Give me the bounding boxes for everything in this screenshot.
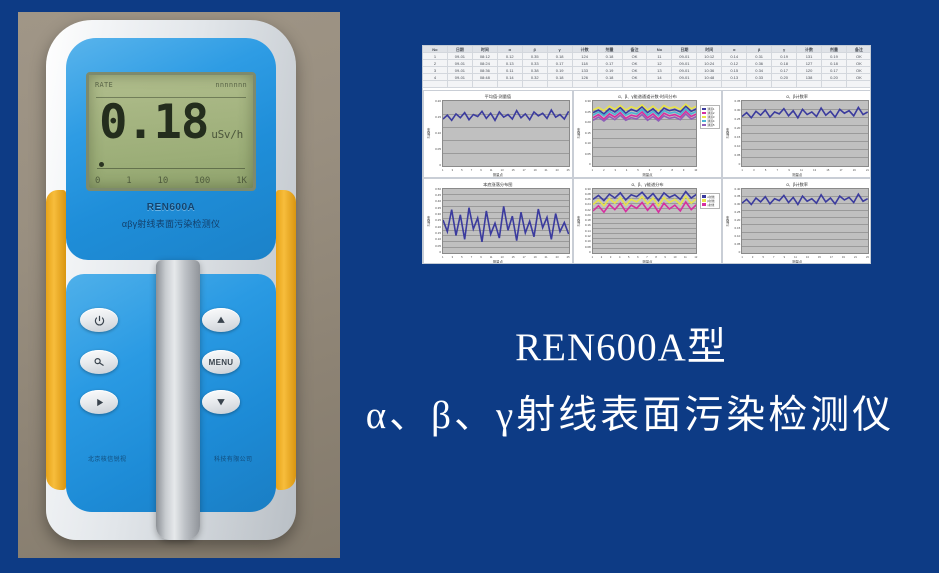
spreadsheet-cell [797, 81, 822, 87]
chart-y-tick: 0.10 [585, 240, 591, 243]
chart-y-tick: 0.20 [435, 226, 441, 229]
chart-y-tick: 0.15 [734, 136, 740, 139]
spreadsheet-cell: 0.36 [747, 60, 772, 66]
chart-title: α、β计数率 [725, 181, 869, 188]
chart-y-tick: 0.20 [585, 121, 591, 124]
spreadsheet-cell: 0.19 [548, 67, 573, 73]
chart-y-axis-label: 计数率 [426, 188, 431, 255]
spreadsheet-row: 309-0108:360.110.380.191330.19OK1309-011… [423, 67, 871, 74]
chart-y-axis-label: 计数率 [725, 100, 730, 167]
spreadsheet-cell: 12 [647, 60, 672, 66]
chart-card: 平均值-测量值计数率0.200.150.100.0501357911131517… [423, 90, 573, 178]
menu-text: MENU [209, 358, 234, 367]
chart-body: 计数率0.350.300.250.200.150.100.050 [725, 100, 869, 167]
spreadsheet-cell: OK [847, 53, 871, 59]
spreadsheet-cell: β [523, 46, 548, 52]
spreadsheet-cell: α [722, 46, 747, 52]
chart-y-tick: 0.25 [734, 118, 740, 121]
spreadsheet-cell: 08:48 [473, 74, 498, 80]
chart-y-tick: 0.50 [435, 188, 441, 191]
play-icon [94, 397, 105, 408]
spreadsheet-cell: 10:36 [697, 67, 722, 73]
power-button[interactable] [80, 308, 118, 332]
chart-y-tick: 0.35 [435, 207, 441, 210]
spreadsheet-cell: 0.33 [747, 74, 772, 80]
spreadsheet-cell: OK [847, 67, 871, 73]
spreadsheet-cell: OK [623, 74, 648, 80]
chart-legend-label: γ射线 [707, 203, 714, 207]
chart-y-tick: 0.40 [734, 188, 740, 191]
chart-legend-swatch [702, 116, 706, 119]
down-button[interactable] [202, 390, 240, 414]
spreadsheet-cell: 计数 [573, 46, 598, 52]
chart-y-tick: 0.20 [734, 219, 740, 222]
spreadsheet-cell: 剂量 [598, 46, 623, 52]
spreadsheet-cell: 0.11 [498, 67, 523, 73]
chart-plot-area [442, 188, 570, 255]
lcd-scale: 01101001K [95, 176, 247, 186]
spreadsheet-cell: 0.20 [822, 74, 847, 80]
spreadsheet-cell: 0.33 [523, 60, 548, 66]
spreadsheet-cell: 09-01 [672, 74, 697, 80]
chart-x-axis-label: 测量点 [574, 259, 722, 264]
spreadsheet-cell: 0.31 [747, 53, 772, 59]
spreadsheet-cell: 4 [423, 74, 448, 80]
spreadsheet-cell: 0.14 [722, 53, 747, 59]
device-hand-strap [156, 260, 200, 540]
lcd-scale-tick-1: 1 [126, 176, 131, 186]
chart-y-ticks: 0.350.300.250.200.150.100.050 [730, 100, 741, 167]
device-model-label: REN600A [66, 202, 276, 213]
spreadsheet-cell: 133 [573, 67, 598, 73]
spreadsheet-cell: 日期 [448, 46, 473, 52]
chart-y-axis-label: 计数率 [725, 188, 730, 255]
chart-body: 计数率0.500.450.400.350.300.250.200.150.100… [426, 188, 570, 255]
spreadsheet-row: 209-0108:240.130.330.171180.17OK1209-011… [423, 60, 871, 67]
play-button[interactable] [80, 390, 118, 414]
chart-card: α、β、γ能谱分布计数率0.300.280.260.240.220.200.18… [573, 178, 723, 265]
spreadsheet-cell: 09-01 [448, 53, 473, 59]
spreadsheet-cell: 10:24 [697, 60, 722, 66]
chart-title: α、β计数率 [725, 93, 869, 100]
spreadsheet-cell: 0.14 [498, 74, 523, 80]
chart-legend-item: 通道5 [702, 123, 718, 127]
device-footer-right: 科技有限公司 [214, 454, 252, 463]
spreadsheet-cell: γ [548, 46, 573, 52]
spreadsheet-cell: 08:36 [473, 67, 498, 73]
spreadsheet-cell [722, 81, 747, 87]
lcd-bargraph [97, 163, 245, 169]
spreadsheet-cell [772, 81, 797, 87]
chart-y-ticks: 0.500.450.400.350.300.250.200.150.100.05… [431, 188, 442, 255]
chart-y-tick: 0.40 [435, 200, 441, 203]
spreadsheet-cell: 备注 [847, 46, 871, 52]
spreadsheet-cell: 0.20 [772, 74, 797, 80]
up-button[interactable] [202, 308, 240, 332]
spreadsheet-cell: 0.38 [523, 67, 548, 73]
chart-card: α、β计数率计数率0.350.300.250.200.150.100.05013… [722, 90, 871, 178]
spreadsheet-cell [647, 81, 672, 87]
spreadsheet-cell [623, 81, 648, 87]
spreadsheet-cell: 120 [797, 67, 822, 73]
device-bumper-left [46, 190, 66, 490]
lcd-status-left: RATE [95, 81, 113, 89]
chart-y-tick: 0.30 [734, 203, 740, 206]
chart-y-tick: 0.10 [435, 132, 441, 135]
spreadsheet-cell: 0.19 [772, 53, 797, 59]
chart-y-ticks: 0.300.250.200.150.100.050 [581, 100, 592, 167]
chart-legend-item: γ射线 [702, 203, 718, 207]
lcd-status-bar: RATE nnnnnnn [89, 77, 253, 93]
spreadsheet-cell: α [498, 46, 523, 52]
chart-legend: 通道1通道2通道3通道4通道5 [700, 105, 720, 129]
spreadsheet-cell: 13 [647, 67, 672, 73]
chart-y-tick: 0.05 [585, 153, 591, 156]
chart-legend-swatch [702, 124, 706, 127]
caption-model-line: REN600A型 [330, 322, 930, 374]
chart-y-tick: 0.20 [435, 100, 441, 103]
lcd-scale-tick-4: 1K [236, 176, 247, 186]
spreadsheet-cell: 计数 [797, 46, 822, 52]
triangle-down-icon [215, 397, 227, 407]
chart-plot-area [442, 100, 570, 167]
power-icon [94, 315, 105, 326]
spreadsheet-strip: No日期时间αβγ计数剂量备注No日期时间αβγ计数剂量备注109-0108:1… [423, 46, 871, 88]
spreadsheet-cell: β [747, 46, 772, 52]
chart-y-tick: 0.24 [585, 203, 591, 206]
lcd-scale-tick-2: 10 [157, 176, 168, 186]
spreadsheet-cell: 0.18 [598, 74, 623, 80]
chart-y-tick: 0.30 [585, 100, 591, 103]
chart-legend-swatch [702, 195, 706, 198]
chart-y-ticks: 0.300.280.260.240.220.200.180.160.140.12… [581, 188, 592, 255]
spreadsheet-cell [573, 81, 598, 87]
spreadsheet-cell: 10:12 [697, 53, 722, 59]
spreadsheet-cell: 0.34 [747, 67, 772, 73]
chart-y-tick: 0.25 [585, 111, 591, 114]
spreadsheet-cell [423, 81, 448, 87]
chart-title: α、β、γ能谱通道计数-时间分布 [576, 93, 720, 100]
chart-title: 本底涨落分布图 [426, 181, 570, 188]
chart-y-tick: 0.20 [585, 214, 591, 217]
spreadsheet-cell: OK [847, 60, 871, 66]
spreadsheet-cell [672, 81, 697, 87]
spreadsheet-cell: 0.17 [548, 60, 573, 66]
spreadsheet-cell [498, 81, 523, 87]
spreadsheet-cell: 124 [573, 53, 598, 59]
device-bumper-right [276, 190, 296, 490]
chart-y-tick: 0.28 [585, 193, 591, 196]
spreadsheet-cell: 0.13 [498, 60, 523, 66]
spreadsheet-cell: No [647, 46, 672, 52]
spreadsheet-cell: 0.17 [822, 67, 847, 73]
chart-y-tick: 0.15 [734, 227, 740, 230]
chart-plot-area [741, 100, 869, 167]
chart-legend-label: 通道5 [707, 123, 714, 127]
lcd-scale-tick-3: 100 [194, 176, 210, 186]
chart-y-ticks: 0.200.150.100.050 [431, 100, 442, 167]
chart-y-tick: 0.16 [585, 224, 591, 227]
chart-y-tick: 0.05 [435, 148, 441, 151]
spreadsheet-cell [847, 81, 871, 87]
spreadsheet-cell: OK [623, 67, 648, 73]
spreadsheet-cell: 118 [573, 60, 598, 66]
chart-y-tick: 0.22 [585, 209, 591, 212]
spreadsheet-cell [747, 81, 772, 87]
lcd-status-right: nnnnnnn [215, 81, 247, 89]
chart-y-ticks: 0.400.350.300.250.200.150.100.050 [730, 188, 741, 255]
spreadsheet-cell: 09-01 [448, 67, 473, 73]
chart-y-tick: 0.10 [734, 235, 740, 238]
chart-series-line [742, 194, 868, 204]
spreadsheet-cell: OK [623, 60, 648, 66]
chart-x-axis-label: 测量点 [723, 259, 871, 264]
spreadsheet-header-row: No日期时间αβγ计数剂量备注No日期时间αβγ计数剂量备注 [423, 46, 871, 53]
chart-legend-swatch [702, 112, 706, 115]
spreadsheet-row: 409-0108:480.140.320.181260.18OK1409-011… [423, 74, 871, 81]
spreadsheet-cell: 0.12 [498, 53, 523, 59]
spreadsheet-cell: 1 [423, 53, 448, 59]
spreadsheet-cell: 09-01 [448, 74, 473, 80]
caption-block: REN600A型 α、β、γ射线表面污染检测仪 [330, 322, 930, 444]
spreadsheet-cell: 0.13 [722, 74, 747, 80]
chart-series-line [443, 110, 569, 120]
spreadsheet-cell: 3 [423, 67, 448, 73]
spreadsheet-cell: 剂量 [822, 46, 847, 52]
spreadsheet-cell: 127 [797, 60, 822, 66]
magnifier-icon [93, 357, 105, 368]
caption-description-line: α、β、γ射线表面污染检测仪 [330, 388, 930, 444]
chart-y-tick: 0.35 [734, 100, 740, 103]
chart-y-axis-label: 计数率 [426, 100, 431, 167]
spreadsheet-cell [548, 81, 573, 87]
spreadsheet-cell: 0.18 [548, 53, 573, 59]
chart-y-tick: 0.30 [585, 188, 591, 191]
menu-button[interactable]: MENU [202, 350, 240, 374]
chart-y-tick: 0 [739, 163, 741, 166]
chart-plot-area [741, 188, 869, 255]
chart-y-tick: 0.15 [435, 116, 441, 119]
chart-y-tick: 0.25 [734, 211, 740, 214]
spreadsheet-cell: 09-01 [672, 67, 697, 73]
search-button[interactable] [80, 350, 118, 374]
chart-title: 平均值-测量值 [426, 93, 570, 100]
spreadsheet-cell: 126 [573, 74, 598, 80]
chart-y-tick: 0 [439, 251, 441, 254]
spreadsheet-cell: 08:24 [473, 60, 498, 66]
chart-body: 计数率0.300.280.260.240.220.200.180.160.140… [576, 188, 720, 255]
lcd-unit: uSv/h [211, 128, 243, 141]
spreadsheet-cell: 138 [797, 74, 822, 80]
spreadsheet-cell: 备注 [623, 46, 648, 52]
spreadsheet-cell: 131 [797, 53, 822, 59]
chart-y-tick: 0.10 [734, 145, 740, 148]
spreadsheet-cell: 0.18 [598, 53, 623, 59]
chart-y-tick: 0.15 [585, 132, 591, 135]
spreadsheet-cell: 0.15 [722, 67, 747, 73]
chart-body: 计数率0.200.150.100.050 [426, 100, 570, 167]
spreadsheet-cell: 时间 [697, 46, 722, 52]
chart-y-tick: 0.25 [435, 219, 441, 222]
spreadsheet-row: 109-0108:120.120.350.181240.18OK1109-011… [423, 53, 871, 60]
chart-y-tick: 0.26 [585, 198, 591, 201]
chart-y-tick: 0.35 [734, 195, 740, 198]
chart-body: 计数率0.400.350.300.250.200.150.100.050 [725, 188, 869, 255]
chart-title: α、β、γ能谱分布 [576, 181, 720, 188]
spreadsheet-cell [523, 81, 548, 87]
chart-y-tick: 0.45 [435, 194, 441, 197]
chart-legend-swatch [702, 203, 706, 206]
spreadsheet-cell: 0.35 [523, 53, 548, 59]
software-screenshot-panel: No日期时间αβγ计数剂量备注No日期时间αβγ计数剂量备注109-0108:1… [422, 45, 871, 264]
spreadsheet-cell: 2 [423, 60, 448, 66]
chart-legend-swatch [702, 108, 706, 111]
chart-y-tick: 0.12 [585, 235, 591, 238]
chart-y-tick: 0.20 [734, 127, 740, 130]
lcd-value: 0.18 [99, 99, 208, 146]
spreadsheet-cell [598, 81, 623, 87]
spreadsheet-cell [697, 81, 722, 87]
chart-y-tick: 0.30 [435, 213, 441, 216]
lcd-reading: 0.18 uSv/h [89, 99, 253, 155]
spreadsheet-cell [448, 81, 473, 87]
spreadsheet-cell: 0.17 [772, 67, 797, 73]
chart-y-tick: 0.10 [585, 142, 591, 145]
device-subtitle-label: αβγ射线表面污染检测仪 [66, 217, 276, 230]
spreadsheet-cell: 0.32 [523, 74, 548, 80]
chart-card: 本底涨落分布图计数率0.500.450.400.350.300.250.200.… [423, 178, 573, 265]
chart-y-tick: 0.18 [585, 219, 591, 222]
spreadsheet-cell: 14 [647, 74, 672, 80]
chart-y-axis-label: 计数率 [576, 100, 581, 167]
spreadsheet-cell: 0.17 [598, 60, 623, 66]
chart-y-tick: 0.05 [435, 245, 441, 248]
spreadsheet-cell: γ [772, 46, 797, 52]
chart-y-tick: 0 [589, 251, 591, 254]
chart-card: α、β计数率计数率0.400.350.300.250.200.150.100.0… [722, 178, 871, 265]
chart-y-tick: 0.30 [734, 109, 740, 112]
spreadsheet-row [423, 81, 871, 88]
spreadsheet-cell: 0.18 [548, 74, 573, 80]
chart-series-line [742, 107, 868, 117]
chart-y-tick: 0.08 [585, 246, 591, 249]
chart-y-tick: 0 [739, 251, 741, 254]
spreadsheet-cell: No [423, 46, 448, 52]
chart-legend-swatch [702, 120, 706, 123]
spreadsheet-cell: OK [623, 53, 648, 59]
chart-plot-area [592, 188, 698, 255]
spreadsheet-cell: 0.18 [772, 60, 797, 66]
spreadsheet-cell: 0.18 [822, 60, 847, 66]
chart-y-tick: 0 [439, 164, 441, 167]
spreadsheet-cell [473, 81, 498, 87]
chart-y-tick: 0.10 [435, 238, 441, 241]
device-lcd-screen: RATE nnnnnnn 0.18 uSv/h 01101001K [86, 72, 256, 191]
chart-grid: 平均值-测量值计数率0.200.150.100.0501357911131517… [423, 90, 871, 264]
triangle-up-icon [215, 315, 227, 325]
spreadsheet-cell: 10:48 [697, 74, 722, 80]
chart-body: 计数率0.300.250.200.150.100.050 [576, 100, 720, 167]
chart-legend: α射线β射线γ射线 [700, 193, 720, 209]
spreadsheet-cell: 日期 [672, 46, 697, 52]
spreadsheet-cell: 0.19 [598, 67, 623, 73]
spreadsheet-cell: 0.12 [722, 60, 747, 66]
spreadsheet-cell: 时间 [473, 46, 498, 52]
spreadsheet-cell: 08:12 [473, 53, 498, 59]
chart-y-tick: 0.05 [734, 243, 740, 246]
spreadsheet-cell: 11 [647, 53, 672, 59]
chart-y-tick: 0.14 [585, 230, 591, 233]
spreadsheet-cell: 09-01 [672, 60, 697, 66]
chart-y-tick: 0.05 [734, 154, 740, 157]
chart-card: α、β、γ能谱通道计数-时间分布计数率0.300.250.200.150.100… [573, 90, 723, 178]
chart-x-axis-label: 测量点 [574, 172, 722, 177]
chart-legend-swatch [702, 199, 706, 202]
lcd-bargraph-marker [99, 162, 104, 167]
chart-series-line [443, 206, 569, 241]
chart-x-axis-label: 测量点 [424, 172, 572, 177]
lcd-scale-tick-0: 0 [95, 176, 100, 186]
chart-x-axis-label: 测量点 [723, 172, 871, 177]
chart-y-tick: 0 [589, 163, 591, 166]
spreadsheet-cell [822, 81, 847, 87]
chart-y-axis-label: 计数率 [576, 188, 581, 255]
device-photo: RATE nnnnnnn 0.18 uSv/h 01101001K REN600… [18, 12, 340, 558]
spreadsheet-cell: 0.19 [822, 53, 847, 59]
spreadsheet-cell: OK [847, 74, 871, 80]
spreadsheet-cell: 09-01 [448, 60, 473, 66]
device-footer-left: 北京核信锐视 [88, 454, 126, 463]
chart-plot-area [592, 100, 698, 167]
chart-x-axis-label: 测量点 [424, 259, 572, 264]
chart-y-tick: 0.15 [435, 232, 441, 235]
spreadsheet-cell: 09-01 [672, 53, 697, 59]
